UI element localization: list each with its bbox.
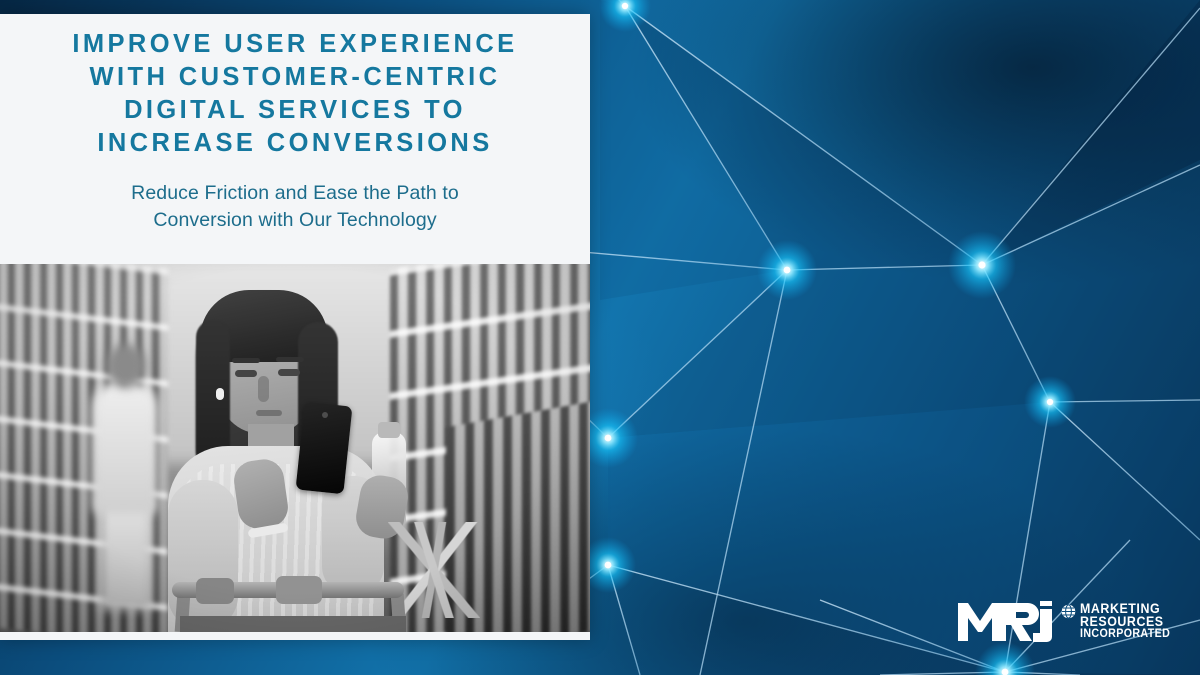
logo-monogram-mri <box>958 601 1054 643</box>
logo-monogram-icon <box>958 601 1054 643</box>
subhead-line-2: Conversion with Our Technology <box>153 209 436 231</box>
page-title: IMPROVE USER EXPERIENCE WITH CUSTOMER-CE… <box>24 28 566 160</box>
headline-line-1: IMPROVE USER EXPERIENCE <box>72 30 517 58</box>
content-card: IMPROVE USER EXPERIENCE WITH CUSTOMER-CE… <box>0 14 590 640</box>
logo-wordmark-group: MARKETING RESOURCES INCORPORATED <box>1061 603 1178 641</box>
photo-vignette <box>0 264 590 632</box>
globe-icon <box>1061 604 1076 619</box>
card-text-block: IMPROVE USER EXPERIENCE WITH CUSTOMER-CE… <box>0 14 590 234</box>
slide-canvas: IMPROVE USER EXPERIENCE WITH CUSTOMER-CE… <box>0 0 1200 675</box>
page-subtitle: Reduce Friction and Ease the Path to Con… <box>24 180 566 234</box>
logo-wordmark: MARKETING RESOURCES INCORPORATED <box>1080 603 1178 641</box>
logo-line-incorporated: INCORPORATED <box>1080 628 1170 641</box>
headline-line-2: WITH CUSTOMER-CENTRIC <box>90 63 501 91</box>
headline-line-4: INCREASE CONVERSIONS <box>97 129 492 157</box>
brand-logo[interactable]: MARKETING RESOURCES INCORPORATED <box>958 601 1178 643</box>
subhead-line-1: Reduce Friction and Ease the Path to <box>131 182 459 204</box>
headline-line-3: DIGITAL SERVICES TO <box>124 96 466 124</box>
hero-photo <box>0 264 590 632</box>
